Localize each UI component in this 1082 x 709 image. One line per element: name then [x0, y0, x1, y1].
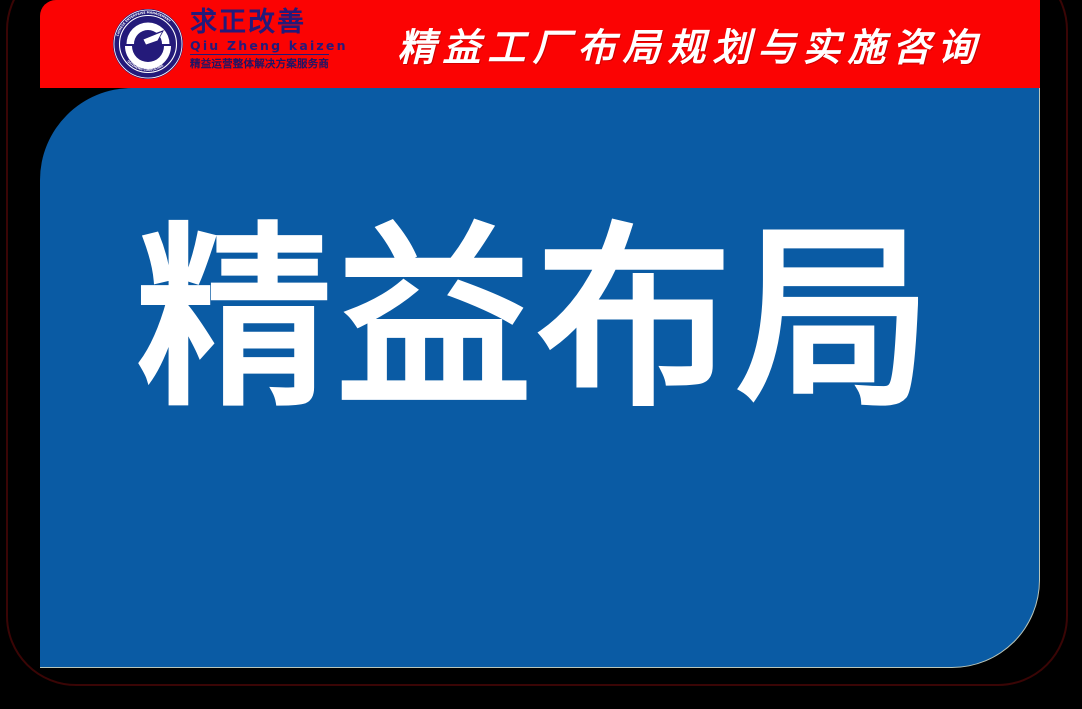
presentation-slide: CHINESE ENTERPRISE MANAGEMENT QIUZHENG C… [0, 0, 1082, 709]
slide-main-title: 精益布局 [40, 220, 1040, 420]
banner-title: 精益工厂布局规划与实施咨询 [340, 17, 1040, 72]
circular-swoosh-emblem-icon: CHINESE ENTERPRISE MANAGEMENT QIUZHENG C… [112, 8, 184, 80]
company-tagline: 精益运营整体解决方案服务商 [190, 57, 330, 71]
company-name-cn: 求正改善 [190, 8, 330, 38]
company-logo-text: 求正改善 Qiu Zheng kaizen 精益运营整体解决方案服务商 [190, 8, 330, 82]
slide-body-panel: 精益布局 [40, 88, 1040, 668]
slide-header-banner: CHINESE ENTERPRISE MANAGEMENT QIUZHENG C… [40, 0, 1040, 88]
company-logo: CHINESE ENTERPRISE MANAGEMENT QIUZHENG C… [112, 4, 327, 84]
company-name-pinyin: Qiu Zheng kaizen [190, 38, 329, 55]
